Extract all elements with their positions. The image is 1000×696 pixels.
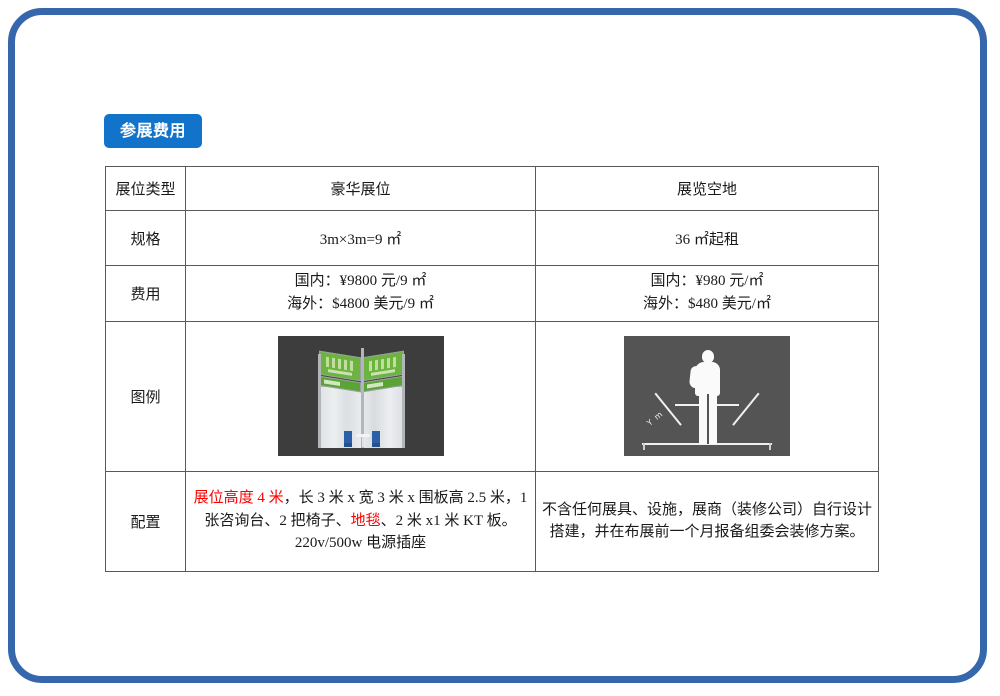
page-root: 参展费用 展位类型 豪华展位 展览空地 规格 3m×3m=9 ㎡ 36 ㎡起租 … [0, 0, 1000, 696]
table-row-booth-type: 展位类型 豪华展位 展览空地 [106, 167, 879, 211]
config-highlight-height: 展位高度 4 米 [194, 490, 284, 506]
band-text-right [367, 382, 383, 389]
fee-deluxe-overseas: 海外：$4800 美元/9 ㎡ [192, 293, 529, 316]
header-deluxe-booth: 豪华展位 [186, 167, 536, 211]
person-leg-gap [707, 394, 709, 444]
row-label-configuration: 配置 [106, 471, 186, 571]
booth-render-image [278, 336, 444, 456]
fee-space-overseas: 海外：$480 美元/㎡ [542, 293, 872, 316]
table-row-configuration: 配置 展位高度 4 米，长 3 米 x 宽 3 米 x 围板高 2.5 米，1 … [106, 471, 879, 571]
fee-deluxe-cell: 国内：¥9800 元/9 ㎡ 海外：$4800 美元/9 ㎡ [186, 266, 536, 322]
section-badge: 参展费用 [104, 114, 202, 148]
booth-image-wrapper [192, 336, 529, 456]
illustration-deluxe-cell [186, 321, 536, 471]
floor-tick-right [769, 443, 771, 450]
illustration-space-cell: Y m [536, 321, 879, 471]
floor-tick-left [643, 443, 645, 450]
table-row-fee: 费用 国内：¥9800 元/9 ㎡ 海外：$4800 美元/9 ㎡ 国内：¥98… [106, 266, 879, 322]
person-leg-left [699, 394, 707, 444]
row-label-fee: 费用 [106, 266, 186, 322]
config-highlight-carpet: 地毯 [351, 513, 381, 529]
table-row-illustration: 图例 [106, 321, 879, 471]
booth-post-left [318, 354, 321, 448]
row-label-illustration: 图例 [106, 321, 186, 471]
booth-post-center [361, 348, 364, 448]
booth-chair-right [372, 431, 380, 443]
fee-space-cell: 国内：¥980 元/㎡ 海外：$480 美元/㎡ [536, 266, 879, 322]
booth-table-leg [362, 437, 364, 447]
space-image-wrapper: Y m [542, 336, 872, 456]
spec-deluxe-value: 3m×3m=9 ㎡ [186, 211, 536, 266]
booth-chair-left [344, 431, 352, 443]
row-label-booth-type: 展位类型 [106, 167, 186, 211]
booth-post-right [402, 354, 405, 448]
config-deluxe-cell: 展位高度 4 米，长 3 米 x 宽 3 米 x 围板高 2.5 米，1 张咨询… [186, 471, 536, 571]
floor-edge-right [732, 393, 759, 426]
band-text-left [324, 379, 340, 386]
fee-space-domestic: 国内：¥980 元/㎡ [542, 270, 872, 293]
exhibition-space-diagram: Y m [624, 336, 790, 456]
table-row-specification: 规格 3m×3m=9 ㎡ 36 ㎡起租 [106, 211, 879, 266]
person-silhouette-icon [690, 350, 724, 444]
spec-space-value: 36 ㎡起租 [536, 211, 879, 266]
config-space-cell: 不含任何展具、设施，展商（装修公司）自行设计搭建，并在布展前一个月报备组委会装修… [536, 471, 879, 571]
person-leg-right [709, 394, 717, 444]
section-badge-label: 参展费用 [120, 123, 186, 139]
header-exhibition-space: 展览空地 [536, 167, 879, 211]
y-axis-label: Y m [645, 409, 665, 428]
exhibition-fee-table: 展位类型 豪华展位 展览空地 规格 3m×3m=9 ㎡ 36 ㎡起租 费用 国内… [105, 166, 879, 572]
fee-deluxe-domestic: 国内：¥9800 元/9 ㎡ [192, 270, 529, 293]
row-label-specification: 规格 [106, 211, 186, 266]
